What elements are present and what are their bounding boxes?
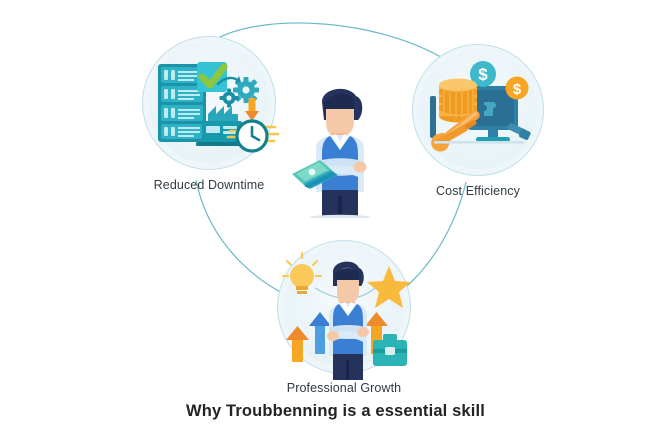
clock-icon (237, 121, 267, 151)
node-reduced-downtime[interactable]: Reduced Downtime (142, 36, 276, 170)
infographic-canvas: Reduced Downtime $ (0, 0, 671, 448)
coins-monitor-wrench-icon: $ $ (412, 44, 544, 176)
tool-icon (507, 122, 531, 140)
node-label-professional-growth: Professional Growth (277, 381, 411, 395)
person-icon (327, 262, 369, 380)
dollar-badge-orange-icon: $ (506, 77, 529, 100)
node-professional-growth[interactable]: Professional Growth (277, 240, 411, 374)
person-with-laptop-icon (286, 78, 396, 218)
svg-text:$: $ (513, 81, 522, 98)
node-cost-efficiency[interactable]: $ $ (412, 44, 544, 176)
page-title: Why Troubbenning is a essential skill (0, 402, 671, 421)
node-label-cost-efficiency: Cost Efficiency (412, 184, 544, 198)
node-label-reduced-downtime: Reduced Downtime (142, 178, 276, 192)
star-icon (367, 266, 411, 308)
person-lightbulb-star-briefcase-icon (271, 236, 421, 382)
svg-text:$: $ (478, 65, 488, 84)
server-checkmark-gears-factory-clock-icon (142, 36, 292, 176)
